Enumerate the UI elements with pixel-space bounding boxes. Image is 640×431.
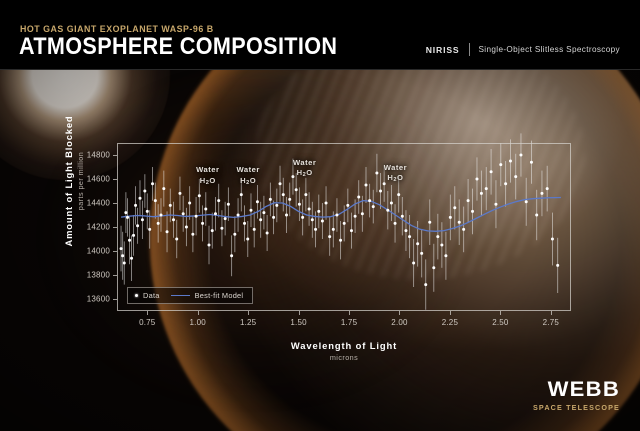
x-tick-label: 2.00 <box>391 318 407 327</box>
legend-label-model: Best-fit Model <box>195 291 244 300</box>
instrument-name: NIRISS <box>426 45 460 55</box>
y-tick-label: 13600 <box>87 295 110 304</box>
page-title: Atmosphere Composition <box>19 35 337 59</box>
y-tick-label: 14000 <box>87 247 110 256</box>
legend-item-model[interactable]: Best-fit Model <box>171 291 244 300</box>
y-tick-mark <box>113 275 117 276</box>
y-tick-mark <box>113 155 117 156</box>
x-tick-label: 2.50 <box>492 318 508 327</box>
y-axis-title-main: Amount of Light Blocked <box>63 101 74 261</box>
instrument-credit: NIRISS Single-Object Slitless Spectrosco… <box>426 43 620 56</box>
water-annotation: WaterH2O <box>236 165 259 186</box>
webb-logo: WEBB SPACE TELESCOPE <box>533 379 620 412</box>
y-axis-title-units: parts per million <box>76 101 85 261</box>
webb-logo-sub: SPACE TELESCOPE <box>533 403 620 412</box>
x-tick-mark <box>147 311 148 315</box>
x-tick-mark <box>349 311 350 315</box>
y-tick-mark <box>113 179 117 180</box>
x-axis-title-main: Wavelength of Light <box>117 340 571 351</box>
divider-icon <box>469 43 470 56</box>
x-tick-mark <box>500 311 501 315</box>
infographic-canvas: Hot Gas Giant Exoplanet WASP-96 b Atmosp… <box>0 0 640 431</box>
legend-item-data[interactable]: Data <box>135 291 160 300</box>
y-tick-label: 14600 <box>87 175 110 184</box>
x-tick-label: 2.25 <box>442 318 458 327</box>
x-tick-mark <box>198 311 199 315</box>
webb-logo-main: WEBB <box>529 379 620 400</box>
y-tick-mark <box>113 299 117 300</box>
y-tick-label: 14800 <box>87 151 110 160</box>
data-point-icon <box>135 294 138 297</box>
model-line-icon <box>171 295 190 296</box>
x-tick-mark <box>248 311 249 315</box>
observation-mode: Single-Object Slitless Spectroscopy <box>479 45 621 54</box>
header-divider <box>0 69 640 70</box>
spectrum-plot: WaterH2OWaterH2OWaterH2OWaterH2O Data Be… <box>117 143 571 311</box>
x-tick-label: 1.00 <box>190 318 206 327</box>
x-tick-mark <box>450 311 451 315</box>
x-tick-label: 0.75 <box>139 318 155 327</box>
water-annotation: WaterH2O <box>384 163 407 184</box>
y-tick-mark <box>113 251 117 252</box>
y-tick-label: 14400 <box>87 199 110 208</box>
x-tick-mark <box>399 311 400 315</box>
y-tick-label: 14200 <box>87 223 110 232</box>
plot-frame <box>117 143 571 311</box>
y-tick-mark <box>113 227 117 228</box>
x-tick-mark <box>551 311 552 315</box>
x-tick-label: 1.25 <box>240 318 256 327</box>
water-annotation: WaterH2O <box>293 158 316 179</box>
x-axis-title: Wavelength of Light microns <box>117 340 571 362</box>
x-tick-label: 1.50 <box>290 318 306 327</box>
y-axis-title: Amount of Light Blocked parts per millio… <box>63 101 85 261</box>
y-tick-label: 13800 <box>87 271 110 280</box>
y-tick-mark <box>113 203 117 204</box>
water-annotation: WaterH2O <box>196 165 219 186</box>
chart-legend[interactable]: Data Best-fit Model <box>127 287 253 304</box>
x-tick-label: 2.75 <box>543 318 559 327</box>
header-bar: Hot Gas Giant Exoplanet WASP-96 b Atmosp… <box>0 0 640 70</box>
x-tick-mark <box>299 311 300 315</box>
x-tick-label: 1.75 <box>341 318 357 327</box>
x-axis-title-units: microns <box>117 353 571 362</box>
legend-label-data: Data <box>143 291 160 300</box>
